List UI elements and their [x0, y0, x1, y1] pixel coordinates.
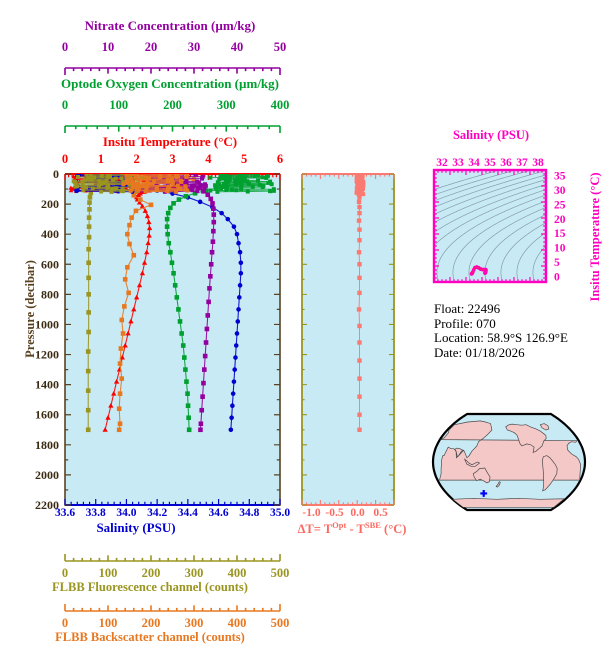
svg-text:200: 200 [163, 98, 182, 112]
svg-text:34.2: 34.2 [147, 507, 167, 519]
svg-text:0: 0 [554, 271, 560, 283]
svg-text:10: 10 [102, 40, 115, 54]
svg-text:2000: 2000 [35, 468, 59, 482]
svg-text:200: 200 [142, 566, 161, 580]
svg-text:1800: 1800 [35, 438, 59, 452]
svg-text:400: 400 [41, 227, 59, 241]
ts-temperature-axis-title-wrap: Insitu Temperature (°C) [586, 162, 604, 312]
svg-text:500: 500 [271, 566, 290, 580]
svg-text:32: 32 [436, 157, 448, 169]
pressure-axis-title-wrap: Pressure (decibar) [21, 229, 39, 389]
svg-text:0.5: 0.5 [373, 507, 388, 519]
salinity-axis-title: Salinity (PSU) [0, 520, 272, 536]
svg-text:35: 35 [554, 171, 566, 183]
svg-text:20: 20 [554, 214, 566, 226]
pressure-axis-title: Pressure (decibar) [23, 260, 37, 358]
svg-text:400: 400 [228, 566, 247, 580]
deltaT-title-post: (°C) [381, 522, 406, 536]
location: Location: 58.9°S 126.9°E [434, 331, 568, 346]
date: Date: 01/18/2026 [434, 346, 568, 361]
ts-temperature-axis-title: Insitu Temperature (°C) [588, 172, 602, 301]
svg-text:400: 400 [271, 98, 290, 112]
svg-text:30: 30 [188, 40, 201, 54]
svg-text:33: 33 [452, 157, 464, 169]
nitrate-axis-svg: 01020304050 [0, 35, 340, 77]
svg-text:0.0: 0.0 [350, 507, 365, 519]
svg-text:38: 38 [532, 157, 544, 169]
svg-text:600: 600 [41, 257, 59, 271]
svg-text:100: 100 [99, 566, 118, 580]
svg-text:0: 0 [62, 98, 68, 112]
svg-text:33.8: 33.8 [86, 507, 106, 519]
float-id: Float: 22496 [434, 302, 568, 317]
svg-text:200: 200 [142, 616, 161, 630]
svg-text:37: 37 [516, 157, 528, 169]
nitrate-axis-title: Nitrate Concentration (µm/kg) [0, 18, 340, 34]
svg-text:0: 0 [62, 566, 68, 580]
svg-text:-1.0: -1.0 [302, 507, 320, 519]
svg-text:36: 36 [500, 157, 512, 169]
svg-text:5: 5 [554, 257, 560, 269]
svg-text:10: 10 [554, 243, 566, 255]
svg-text:0: 0 [53, 167, 59, 181]
svg-text:15: 15 [554, 228, 566, 240]
ts-diagram-panel[interactable]: 32333435363738 35302520151050 [424, 142, 609, 302]
main-profile-panel[interactable]: 0200400600800100012001400160018002000220… [0, 160, 300, 560]
deltaT-title-mid: - T [346, 522, 365, 536]
svg-text:0: 0 [62, 40, 68, 54]
oxygen-axis-title: Optode Oxygen Concentration (µm/kg) [0, 76, 340, 92]
deltaT-title-sup-opt: Opt [332, 520, 346, 530]
profile-number: Profile: 070 [434, 317, 568, 332]
svg-text:20: 20 [145, 40, 158, 54]
svg-text:34.6: 34.6 [209, 507, 229, 519]
svg-text:30: 30 [554, 185, 566, 197]
temperature-axis-title: Insitu Temperature (°C) [0, 134, 340, 150]
svg-text:400: 400 [228, 616, 247, 630]
svg-text:800: 800 [41, 287, 59, 301]
deltaT-title-pre: ΔT= T [298, 522, 333, 536]
svg-text:300: 300 [185, 566, 204, 580]
deltaT-title-sup-sbe: SBE [365, 520, 381, 530]
svg-text:34.4: 34.4 [178, 507, 198, 519]
svg-text:200: 200 [41, 197, 59, 211]
svg-text:100: 100 [109, 98, 128, 112]
float-metadata: Float: 22496 Profile: 070 Location: 58.9… [434, 302, 568, 360]
svg-text:300: 300 [185, 616, 204, 630]
delta-t-panel[interactable] [290, 160, 420, 520]
svg-text:34.8: 34.8 [239, 507, 259, 519]
svg-text:50: 50 [274, 40, 287, 54]
svg-text:40: 40 [231, 40, 244, 54]
ts-salinity-axis-title: Salinity (PSU) [426, 128, 556, 143]
svg-text:34.0: 34.0 [116, 507, 136, 519]
location-map[interactable] [424, 405, 594, 520]
svg-text:34: 34 [468, 157, 480, 169]
svg-text:25: 25 [554, 199, 566, 211]
svg-text:35: 35 [484, 157, 496, 169]
svg-text:300: 300 [217, 98, 236, 112]
oxygen-axis-svg: 0100200300400 [0, 93, 340, 135]
svg-text:-0.5: -0.5 [325, 507, 343, 519]
deltaT-axis-title: ΔT= TOpt - TSBE (°C) [288, 520, 416, 537]
svg-text:1600: 1600 [35, 408, 59, 422]
fluorescence-axis-title: FLBB Fluorescence channel (counts) [0, 580, 300, 595]
svg-text:33.6: 33.6 [55, 507, 75, 519]
backscatter-axis-title: FLBB Backscatter channel (counts) [0, 630, 300, 645]
svg-text:0: 0 [62, 616, 68, 630]
svg-text:100: 100 [99, 616, 118, 630]
svg-text:500: 500 [271, 616, 290, 630]
